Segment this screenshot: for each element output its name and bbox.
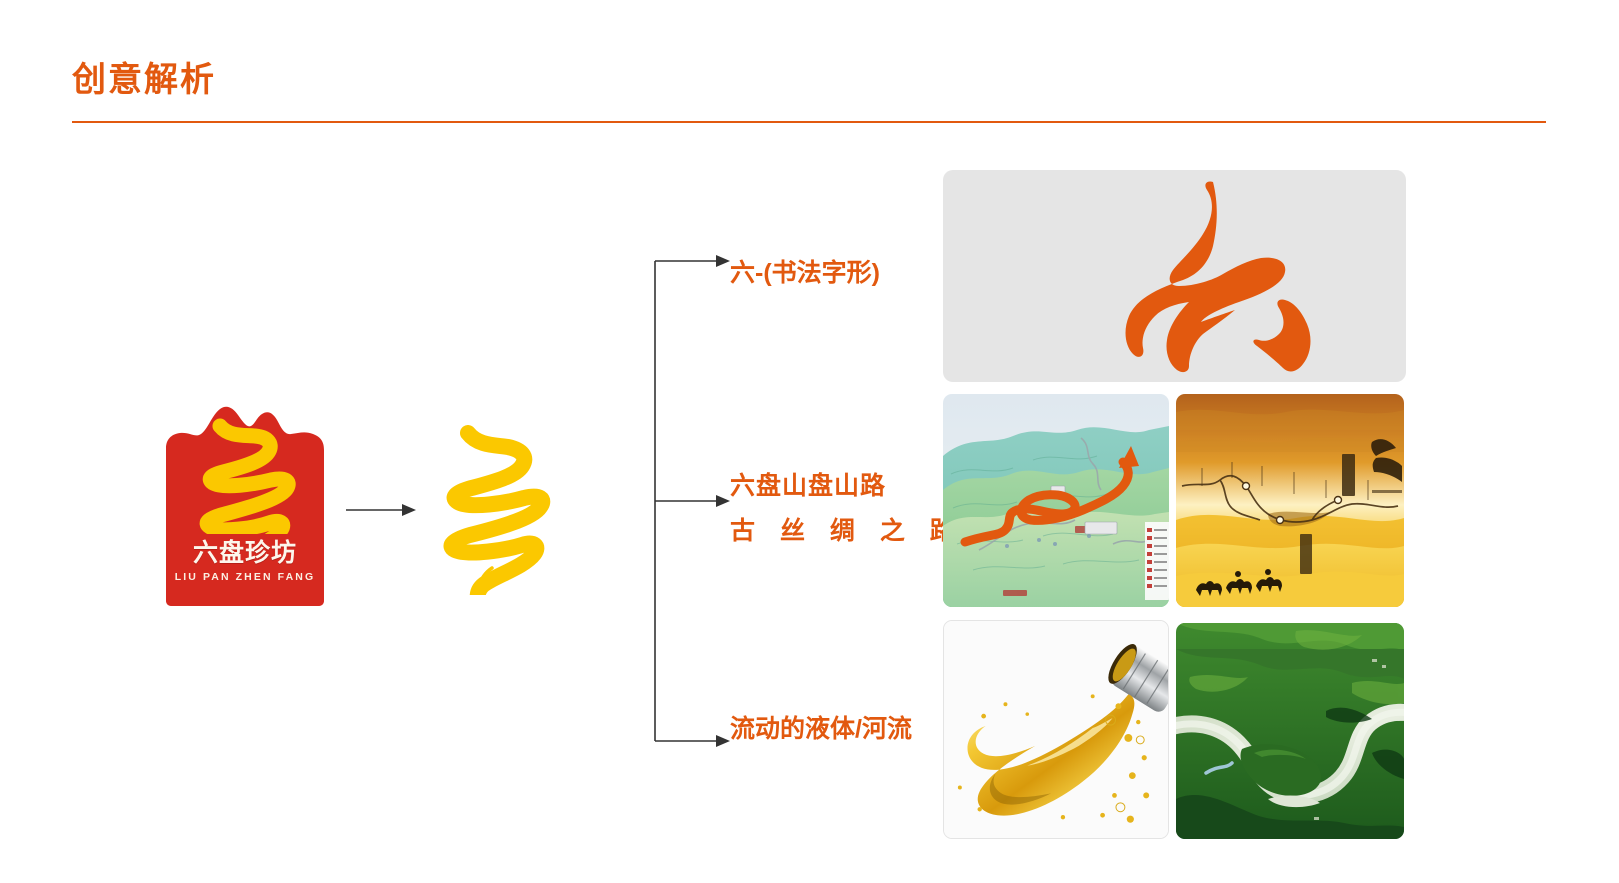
calligraphy-liu-character-icon [1063, 176, 1363, 376]
media-pouring-oil [943, 620, 1169, 839]
branch-label-calligraphy: 六-(书法字形) [730, 253, 880, 289]
media-ancient-silk-road [1176, 394, 1404, 607]
silk-road-desert-image [1176, 394, 1404, 607]
branch-label-flow: 流动的液体/河流 [730, 709, 912, 745]
media-liupanshan-road-map [943, 394, 1169, 607]
mountain-map-image [943, 394, 1169, 607]
calligraphy-panel [943, 170, 1406, 382]
title-divider [72, 121, 1546, 123]
golden-oil-pour-image [944, 621, 1168, 838]
page-title: 创意解析 [72, 52, 216, 101]
logo-chinese-name: 六盘珍坊 [163, 541, 327, 566]
arrow-right-icon [344, 495, 418, 525]
extracted-calligraphic-mark [430, 425, 580, 595]
slide-root: 创意解析 六盘珍坊 LIU PAN ZHEN FANG [0, 0, 1619, 883]
branch-bracket [626, 250, 736, 750]
brand-logo: 六盘珍坊 LIU PAN ZHEN FANG [163, 404, 327, 608]
river-aerial-image [1176, 623, 1404, 839]
branch-label-roads-line1: 六盘山盘山路 [730, 466, 886, 502]
branch-label-roads-line2: 古 丝 绸 之 路 [730, 511, 964, 547]
logo-pinyin: LIU PAN ZHEN FANG [163, 572, 327, 583]
media-winding-river [1176, 623, 1404, 839]
